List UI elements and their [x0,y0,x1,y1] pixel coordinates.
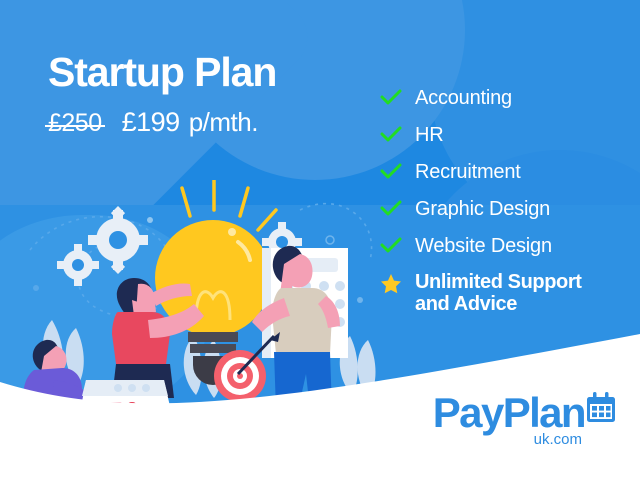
page-title: Startup Plan [48,52,378,93]
check-icon [380,234,402,259]
current-price-value: £199 [122,107,180,138]
old-price: £250 [48,109,102,138]
check-icon [380,86,402,111]
feature-label: Graphic Design [415,197,550,221]
logo-wordmark: PayPlan [433,393,585,433]
feature-item: Accounting [380,86,630,123]
check-icon [380,197,402,222]
feature-item-highlighted: Unlimited Support and Advice [380,271,630,316]
promo-card: Startup Plan £250 £199 p/mth. Accounting… [0,0,640,480]
price-period: p/mth. [189,107,258,138]
feature-label: Website Design [415,234,552,258]
feature-label: Unlimited Support and Advice [415,271,582,316]
feature-item: Website Design [380,234,630,271]
feature-item: Recruitment [380,160,630,197]
feature-label: Accounting [415,86,512,110]
logo-main-row: PayPlan [433,393,616,433]
check-icon [380,123,402,148]
feature-label: Recruitment [415,160,521,184]
brand-logo[interactable]: PayPlan uk.com [433,393,616,448]
price-row: £250 £199 p/mth. [48,107,378,138]
calendar-icon [586,391,616,428]
feature-item: HR [380,123,630,160]
star-icon [380,271,402,299]
feature-item: Graphic Design [380,197,630,234]
feature-list: Accounting HR Recruitment Graphic Design [380,86,630,316]
headline-block: Startup Plan £250 £199 p/mth. [48,52,378,138]
feature-label: HR [415,123,444,147]
current-price: £199 p/mth. [122,107,258,138]
check-icon [380,160,402,185]
